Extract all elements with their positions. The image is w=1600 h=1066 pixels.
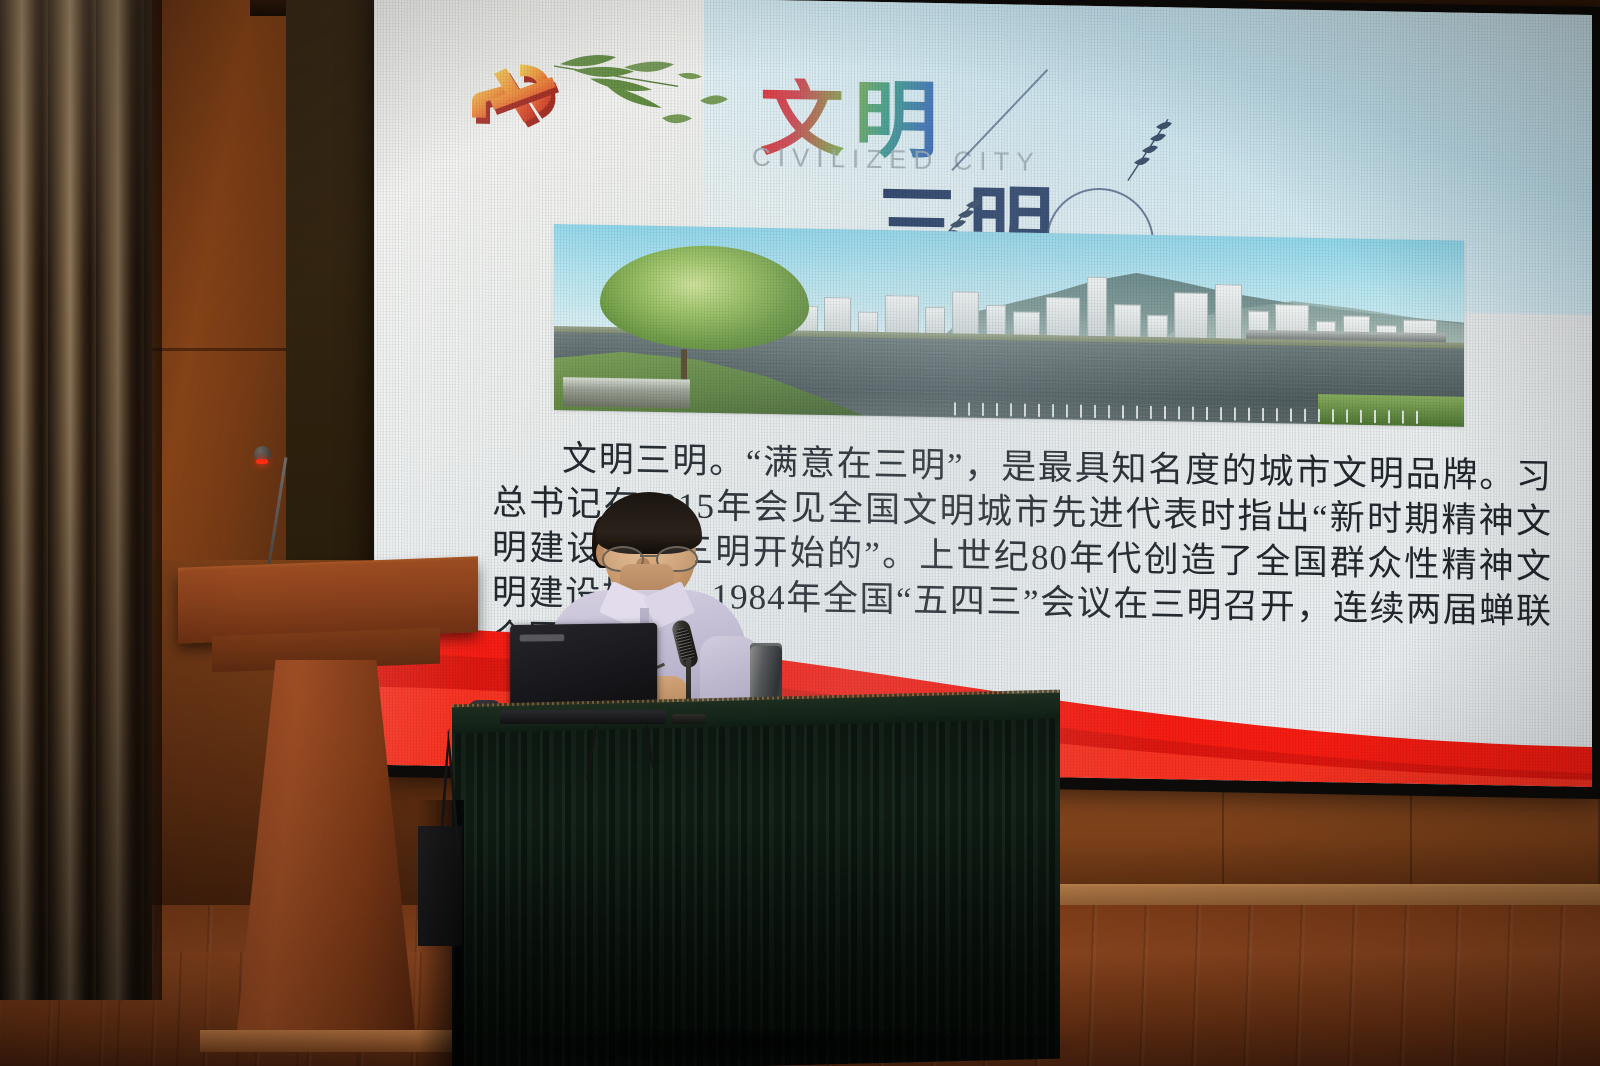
laptop-logo — [520, 634, 565, 641]
laptop-base — [500, 710, 666, 724]
curtain-shadow-edge — [104, 0, 162, 1000]
photo-pavilion — [563, 377, 690, 409]
desk-microphone-base — [672, 714, 706, 724]
microphone-led-indicator — [256, 459, 268, 464]
table-skirt — [452, 719, 1060, 1066]
speaker-brow-left — [608, 538, 634, 542]
lecture-hall-scene: 文明 CIVILIZED CITY 三明 — [0, 0, 1600, 1066]
cityscape-photo — [554, 224, 1464, 427]
speaker-brow-right — [660, 538, 686, 542]
headline-english-subtitle: CIVILIZED CITY — [752, 142, 1041, 178]
floor-shadow — [430, 1030, 1090, 1066]
olive-branch-icon-secondary — [1122, 114, 1180, 185]
lectern-base — [200, 1030, 452, 1052]
